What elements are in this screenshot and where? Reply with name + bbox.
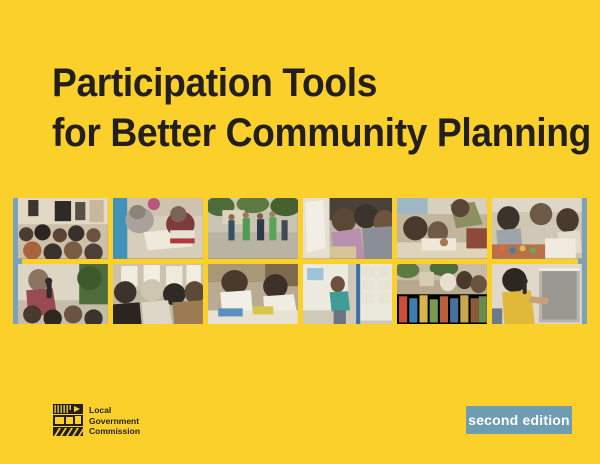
photo-thumbnail bbox=[113, 264, 203, 325]
photo-strip bbox=[0, 198, 600, 324]
photo-thumbnail bbox=[208, 264, 298, 325]
edition-badge: second edition bbox=[466, 406, 572, 434]
logo-lockup: Local Government Commission bbox=[53, 404, 140, 437]
logo-word-line-3: Commission bbox=[89, 426, 140, 437]
photo-grid bbox=[18, 198, 582, 324]
photo-thumbnail bbox=[18, 198, 108, 259]
edition-badge-label: second edition bbox=[468, 412, 570, 428]
local-government-commission-emblem-icon bbox=[53, 404, 83, 436]
photo-thumbnail bbox=[113, 198, 203, 259]
logo-word-line-1: Local bbox=[89, 405, 140, 416]
page-title: Participation Tools for Better Community… bbox=[52, 58, 552, 158]
title-line-1: Participation Tools bbox=[52, 58, 517, 108]
photo-thumbnail bbox=[303, 198, 393, 259]
title-line-2: for Better Community Planning bbox=[52, 108, 517, 158]
photo-thumbnail bbox=[303, 264, 393, 325]
logo-word-line-2: Government bbox=[89, 416, 140, 427]
logo-wordmark: Local Government Commission bbox=[89, 404, 140, 437]
book-cover: Participation Tools for Better Community… bbox=[0, 0, 600, 464]
photo-thumbnail bbox=[18, 264, 108, 325]
photo-thumbnail bbox=[492, 264, 582, 325]
photo-thumbnail bbox=[492, 198, 582, 259]
photo-thumbnail bbox=[397, 198, 487, 259]
photo-thumbnail bbox=[397, 264, 487, 325]
photo-thumbnail bbox=[208, 198, 298, 259]
